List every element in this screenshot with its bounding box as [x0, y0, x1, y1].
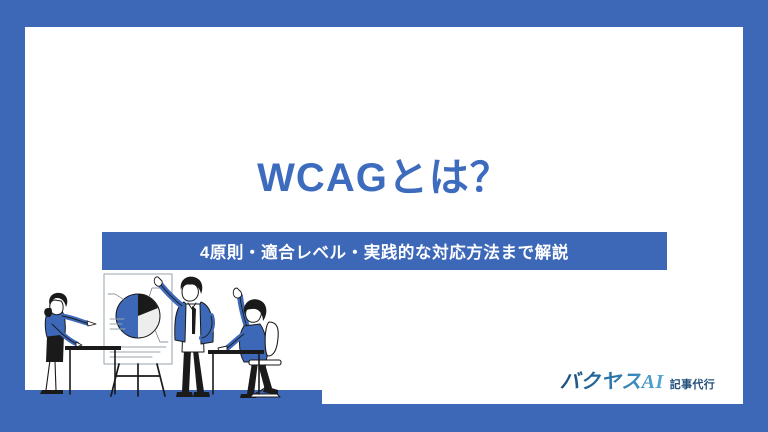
slide-frame: WCAGとは？ 4原則・適合レベル・実践的な対応方法まで解説 バクヤスAI 記事…	[0, 0, 768, 432]
brand-name: バクヤスAI	[560, 365, 664, 394]
pie-chart	[116, 294, 160, 338]
woman-pointing-at-desk	[40, 293, 96, 394]
brand-service-label: 記事代行	[670, 376, 715, 392]
brand-logo: バクヤスAI 記事代行	[560, 365, 715, 394]
subtitle-text: 4原則・適合レベル・実践的な対応方法まで解説	[200, 239, 569, 263]
slide-canvas: WCAGとは？ 4原則・適合レベル・実践的な対応方法まで解説 バクヤスAI 記事…	[25, 27, 743, 404]
page-title: WCAGとは？	[25, 155, 743, 201]
illustration-svg	[25, 264, 322, 404]
business-presentation-illustration	[25, 264, 322, 404]
subtitle-band: 4原則・適合レベル・実践的な対応方法まで解説	[102, 232, 667, 270]
